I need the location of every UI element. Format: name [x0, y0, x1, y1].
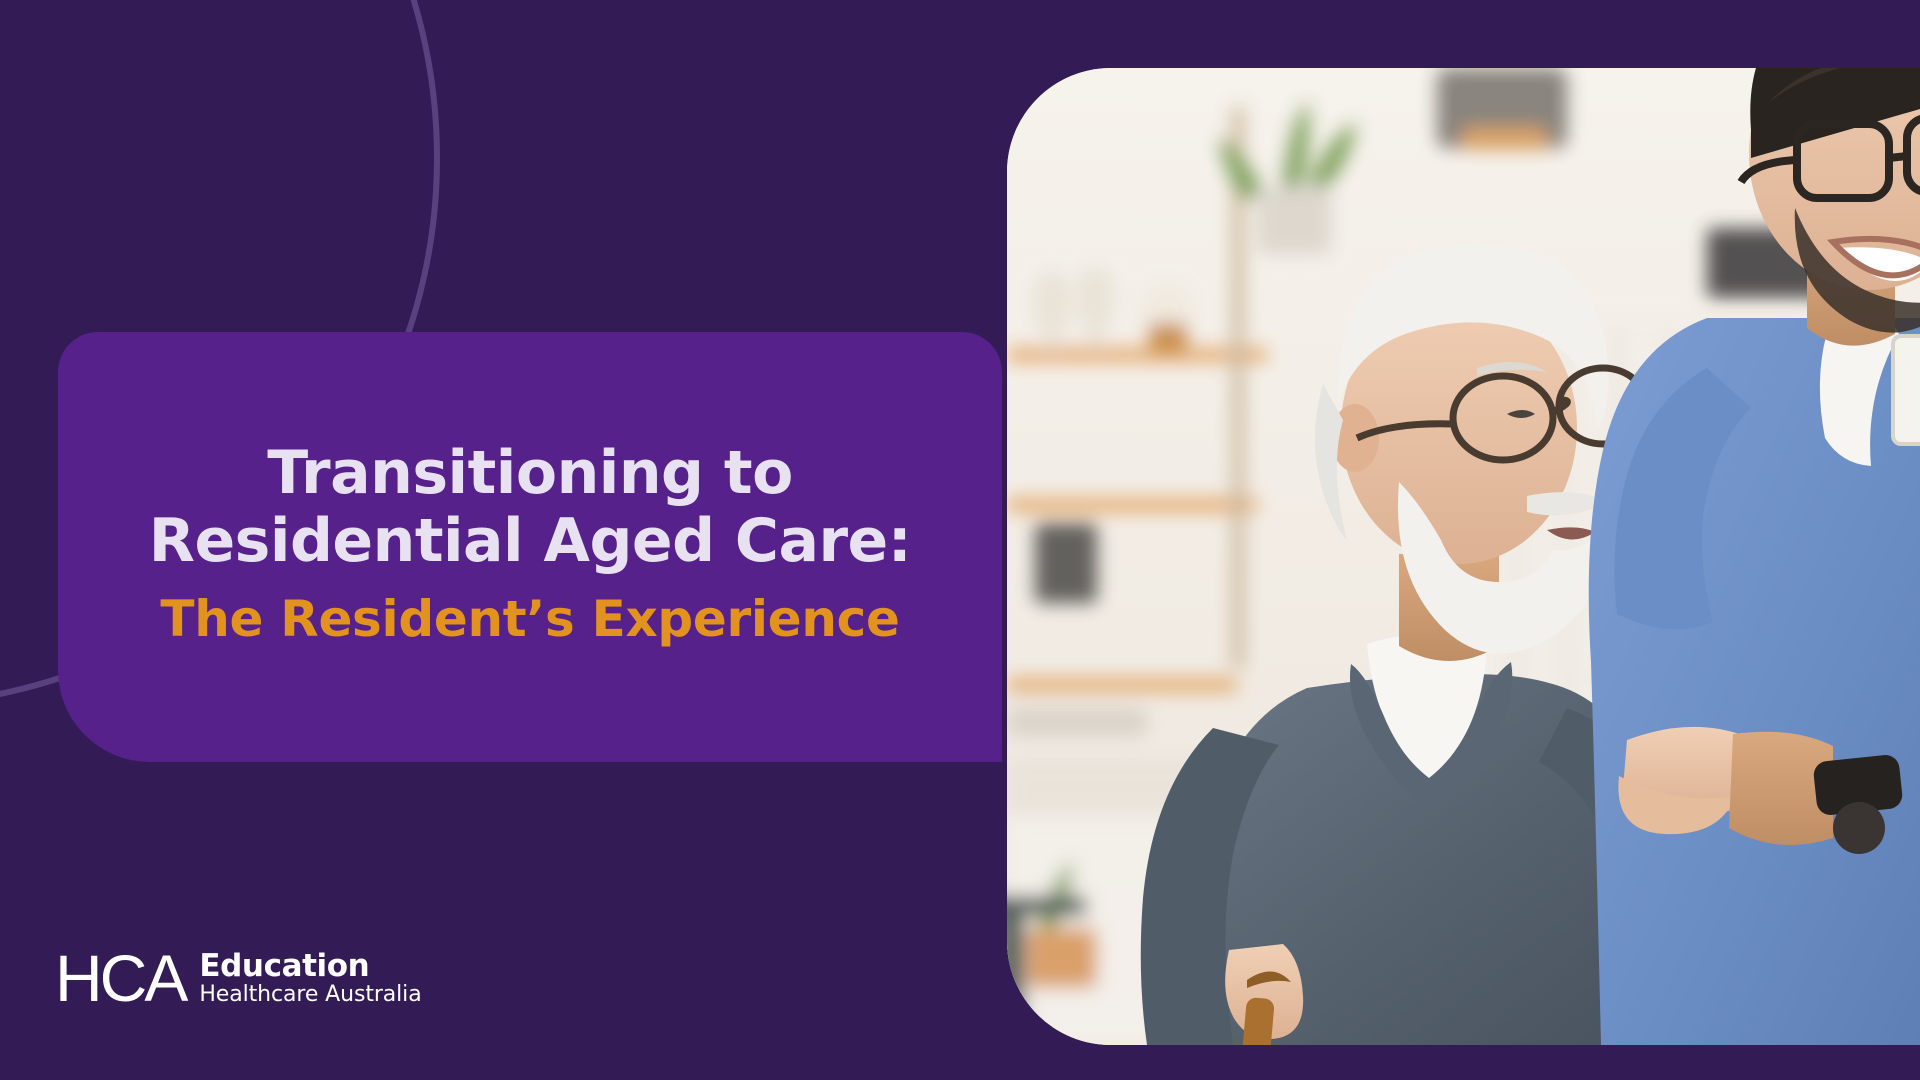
slide-canvas: Transitioning to Residential Aged Care: … — [0, 0, 1920, 1080]
hca-wordmark: HCA — [55, 945, 185, 1011]
hero-photo-illustration — [1007, 68, 1920, 1045]
title-line-1: Transitioning to — [267, 438, 793, 508]
logo-text-block: Education Healthcare Australia — [199, 951, 421, 1006]
hero-photo — [1007, 68, 1920, 1045]
title-card: Transitioning to Residential Aged Care: … — [58, 332, 1002, 762]
logo-healthcare-australia-label: Healthcare Australia — [199, 984, 421, 1006]
title-line-2: Residential Aged Care: — [149, 506, 911, 576]
logo-education-label: Education — [199, 951, 421, 982]
hca-logo: HCA Education Healthcare Australia — [55, 945, 422, 1011]
page-subtitle: The Resident’s Experience — [160, 589, 899, 649]
page-title: Transitioning to Residential Aged Care: — [149, 439, 911, 576]
